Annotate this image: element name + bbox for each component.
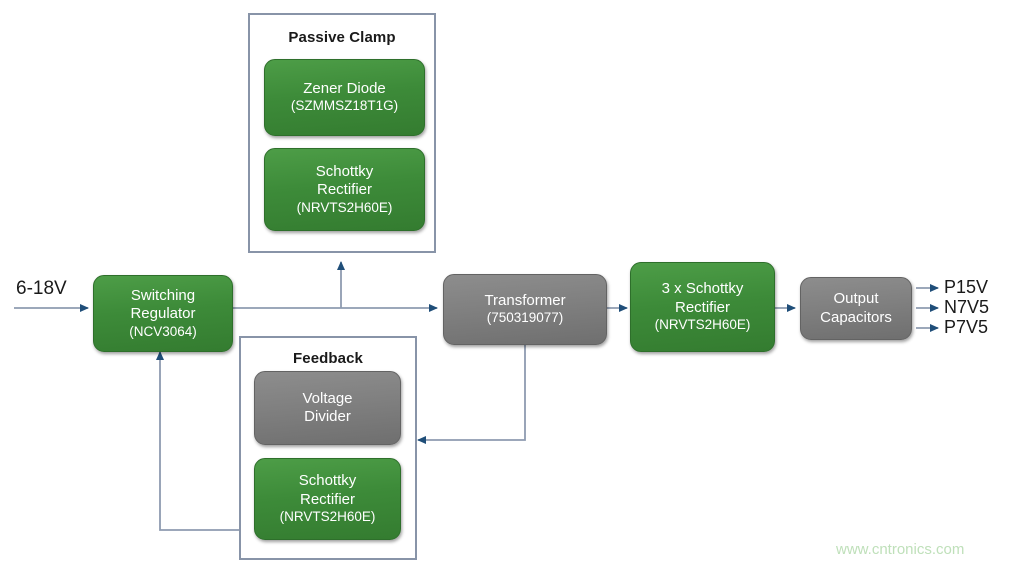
- block-clamp-schottky-rectifier[interactable]: Schottky Rectifier (NRVTS2H60E): [264, 148, 425, 231]
- block-zener-diode[interactable]: Zener Diode (SZMMSZ18T1G): [264, 59, 425, 136]
- block-switching-regulator-part: (NCV3064): [129, 324, 197, 341]
- block-switching-regulator-line1: Switching: [131, 287, 195, 305]
- output-rail-label-0: P15V: [944, 277, 988, 298]
- output-rail-label-1: N7V5: [944, 297, 989, 318]
- block-output-rectifier-line1: 3 x Schottky: [662, 280, 744, 298]
- block-switching-regulator[interactable]: Switching Regulator (NCV3064): [93, 275, 233, 352]
- block-transformer-line1: Transformer: [484, 292, 565, 310]
- block-clamp-schottky-line2: Rectifier: [317, 181, 372, 199]
- block-output-rectifier[interactable]: 3 x Schottky Rectifier (NRVTS2H60E): [630, 262, 775, 352]
- group-feedback-title: Feedback: [241, 350, 415, 367]
- block-switching-regulator-line2: Regulator: [130, 305, 195, 323]
- block-voltage-divider-line1: Voltage: [302, 390, 352, 408]
- block-output-capacitors-line2: Capacitors: [820, 309, 892, 327]
- block-voltage-divider[interactable]: Voltage Divider: [254, 371, 401, 445]
- block-clamp-schottky-part: (NRVTS2H60E): [297, 200, 393, 217]
- input-voltage-label: 6-18V: [16, 278, 67, 300]
- block-zener-diode-line1: Zener Diode: [303, 80, 386, 98]
- output-rail-label-2: P7V5: [944, 317, 988, 338]
- block-feedback-schottky-line2: Rectifier: [300, 491, 355, 509]
- block-output-capacitors[interactable]: Output Capacitors: [800, 277, 912, 340]
- block-feedback-schottky-rectifier[interactable]: Schottky Rectifier (NRVTS2H60E): [254, 458, 401, 540]
- group-passive-clamp-title: Passive Clamp: [250, 29, 434, 46]
- block-transformer-part: (750319077): [487, 310, 564, 327]
- block-voltage-divider-line2: Divider: [304, 408, 351, 426]
- block-zener-diode-part: (SZMMSZ18T1G): [291, 98, 398, 115]
- block-feedback-schottky-line1: Schottky: [299, 472, 357, 490]
- block-output-capacitors-line1: Output: [833, 290, 878, 308]
- block-diagram-canvas: Passive Clamp Zener Diode (SZMMSZ18T1G) …: [0, 0, 1020, 567]
- block-clamp-schottky-line1: Schottky: [316, 163, 374, 181]
- block-feedback-schottky-part: (NRVTS2H60E): [280, 509, 376, 526]
- site-watermark: www.cntronics.com: [836, 541, 964, 558]
- block-output-rectifier-part: (NRVTS2H60E): [655, 317, 751, 334]
- wire-transformer-to-feedback: [418, 345, 525, 440]
- block-output-rectifier-line2: Rectifier: [675, 299, 730, 317]
- block-transformer[interactable]: Transformer (750319077): [443, 274, 607, 345]
